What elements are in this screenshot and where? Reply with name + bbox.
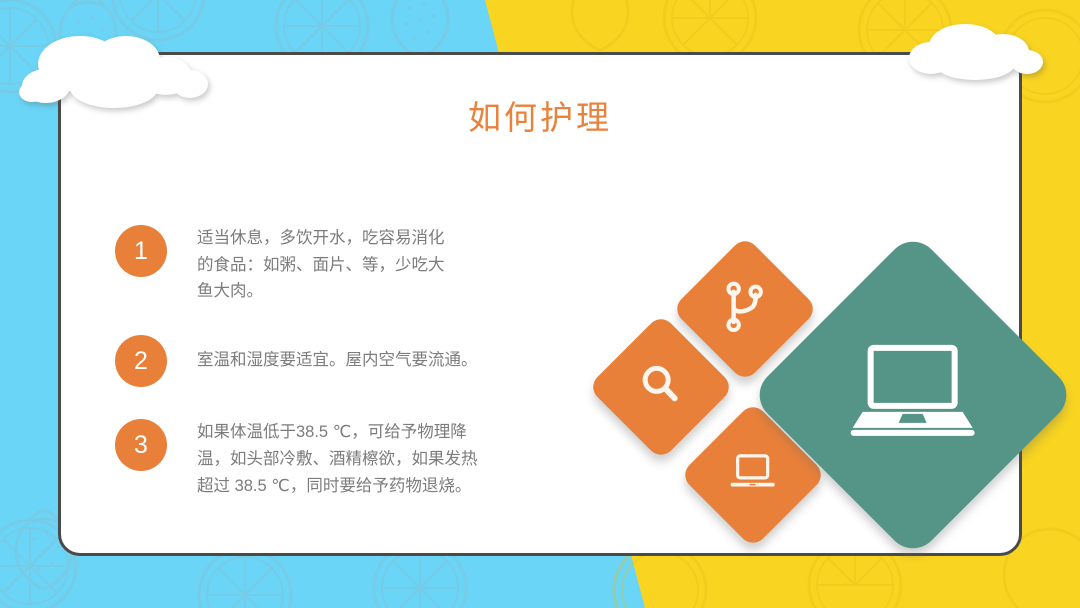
list-item-text: 适当休息，多饮开水，吃容易消化 的食品：如粥、面片、等，少吃大 鱼大肉。 [197,223,585,305]
diamond-laptop-large [749,231,1077,559]
diamond-graphic-cluster [601,253,1080,573]
git-branch-icon [721,281,769,338]
slide-canvas: 如何护理 1 适当休息，多饮开水，吃容易消化 的食品：如粥、面片、等，少吃大 鱼… [0,0,1080,608]
list-item: 3 如果体温低于38.5 ℃，可给予物理降 温，如头部冷敷、酒精檫欲，如果发热 … [115,417,585,499]
page-title: 如何护理 [61,91,1019,139]
list-number-badge: 2 [115,335,167,387]
list-item: 2 室温和湿度要适宜。屋内空气要流通。 [115,333,585,389]
laptop-icon [727,452,779,499]
content-card: 如何护理 1 适当休息，多饮开水，吃容易消化 的食品：如粥、面片、等，少吃大 鱼… [58,52,1022,556]
list-number-badge: 3 [115,419,167,471]
care-instruction-list: 1 适当休息，多饮开水，吃容易消化 的食品：如粥、面片、等，少吃大 鱼大肉。 2… [115,223,585,527]
list-item-text: 室温和湿度要适宜。屋内空气要流通。 [197,333,585,374]
search-icon [637,361,685,414]
list-number-badge: 1 [115,225,167,277]
list-item-text: 如果体温低于38.5 ℃，可给予物理降 温，如头部冷敷、酒精檫欲，如果发热 超过… [197,417,585,499]
laptop-icon [849,342,977,449]
list-item: 1 适当休息，多饮开水，吃容易消化 的食品：如粥、面片、等，少吃大 鱼大肉。 [115,223,585,305]
